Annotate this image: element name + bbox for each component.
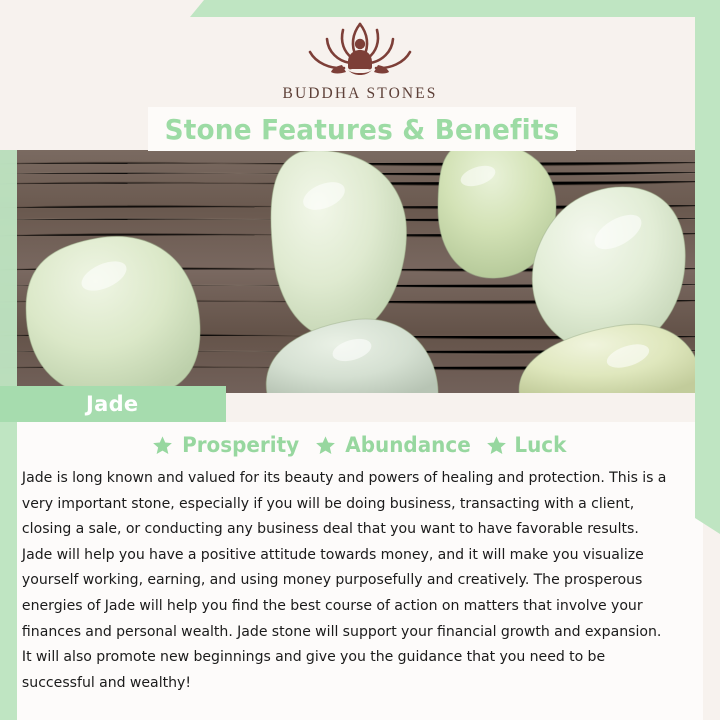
frame-left-accent <box>0 150 17 390</box>
benefit-item: Luck <box>486 433 568 457</box>
benefit-item: Abundance <box>315 433 474 457</box>
benefit-label: Prosperity <box>183 433 300 457</box>
jade-stones-photo <box>0 150 720 393</box>
benefits-row: Prosperity Abundance Luck <box>20 425 700 465</box>
title-banner: Stone Features & Benefits <box>148 107 576 151</box>
stone-features-infographic: BUDDHA STONES Stone Features & Benefits <box>0 0 720 720</box>
stone-name-label: Jade <box>86 392 138 416</box>
star-icon <box>315 435 336 456</box>
star-icon <box>486 435 507 456</box>
stone-name-band: Jade <box>0 386 226 422</box>
stone-description: Jade is long known and valued for its be… <box>20 465 676 695</box>
benefit-item: Prosperity <box>152 433 302 457</box>
brand-name: BUDDHA STONES <box>283 85 438 103</box>
lotus-meditation-icon <box>296 18 424 84</box>
benefit-label: Luck <box>514 433 566 457</box>
page-title: Stone Features & Benefits <box>165 113 560 146</box>
content-panel: Prosperity Abundance Luck Jade is long k… <box>17 422 703 720</box>
benefit-label: Abundance <box>345 433 470 457</box>
star-icon <box>152 435 173 456</box>
brand-header: BUDDHA STONES <box>0 12 720 108</box>
frame-left-bar <box>0 388 17 720</box>
